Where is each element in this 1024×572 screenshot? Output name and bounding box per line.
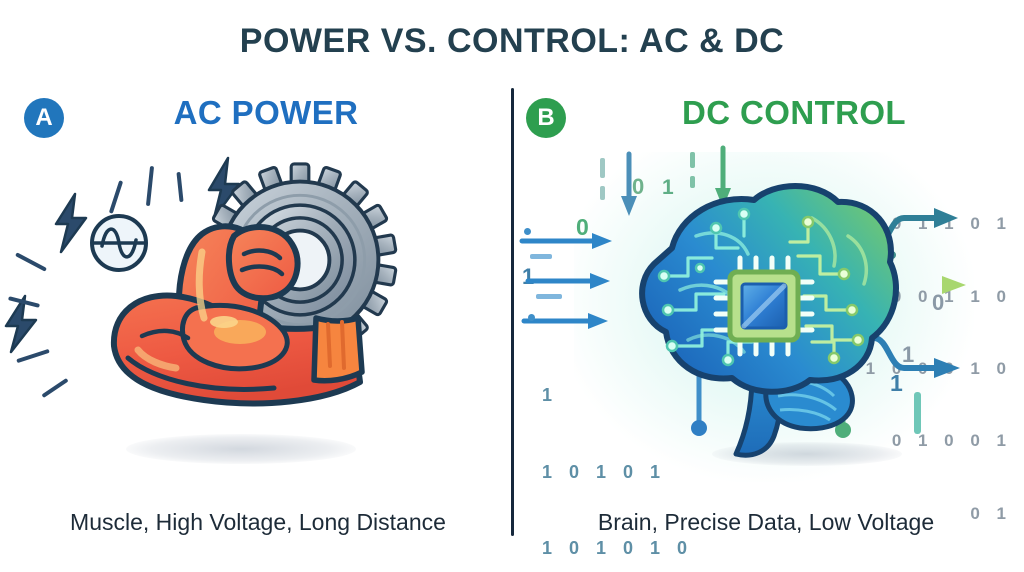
page-title: POWER VS. CONTROL: AC & DC	[0, 22, 1024, 61]
dash-tick	[530, 254, 552, 259]
dc-illustration: 1 0 0 1 0 1 1 0 1 1 0 1 0 0 0 1 1 0 1 0 …	[514, 142, 1018, 492]
panel-ac-caption: Muscle, High Voltage, Long Distance	[6, 509, 510, 536]
flexed-muscle-arm-icon	[84, 200, 384, 450]
panel-ac-heading: AC POWER	[14, 94, 518, 132]
panel-dc-header: B DC CONTROL	[514, 88, 1018, 144]
dot-tick	[524, 228, 531, 235]
spark-line	[176, 172, 183, 202]
panel-ac-power: A AC POWER	[6, 80, 510, 560]
binary-row: 1 0 1 0 1 0	[542, 536, 747, 562]
dash-tick	[536, 294, 562, 299]
dot-tick	[528, 314, 535, 321]
ac-illustration	[6, 142, 510, 492]
panel-ac-header: A AC POWER	[6, 88, 510, 144]
spark-line	[15, 252, 47, 271]
infographic-root: POWER VS. CONTROL: AC & DC A AC POWER	[0, 0, 1024, 572]
panel-dc-caption: Brain, Precise Data, Low Voltage	[514, 509, 1018, 536]
spark-line	[41, 378, 68, 398]
circuit-brain-icon	[576, 170, 916, 460]
dash-tick	[690, 152, 695, 168]
panel-dc-control: B DC CONTROL 1 0 0 1 0 1 1 0 1 1 0 1 0 0…	[514, 80, 1018, 560]
panel-dc-heading: DC CONTROL	[542, 94, 1024, 132]
binary-row: 1 0 1 0 1	[542, 460, 747, 486]
